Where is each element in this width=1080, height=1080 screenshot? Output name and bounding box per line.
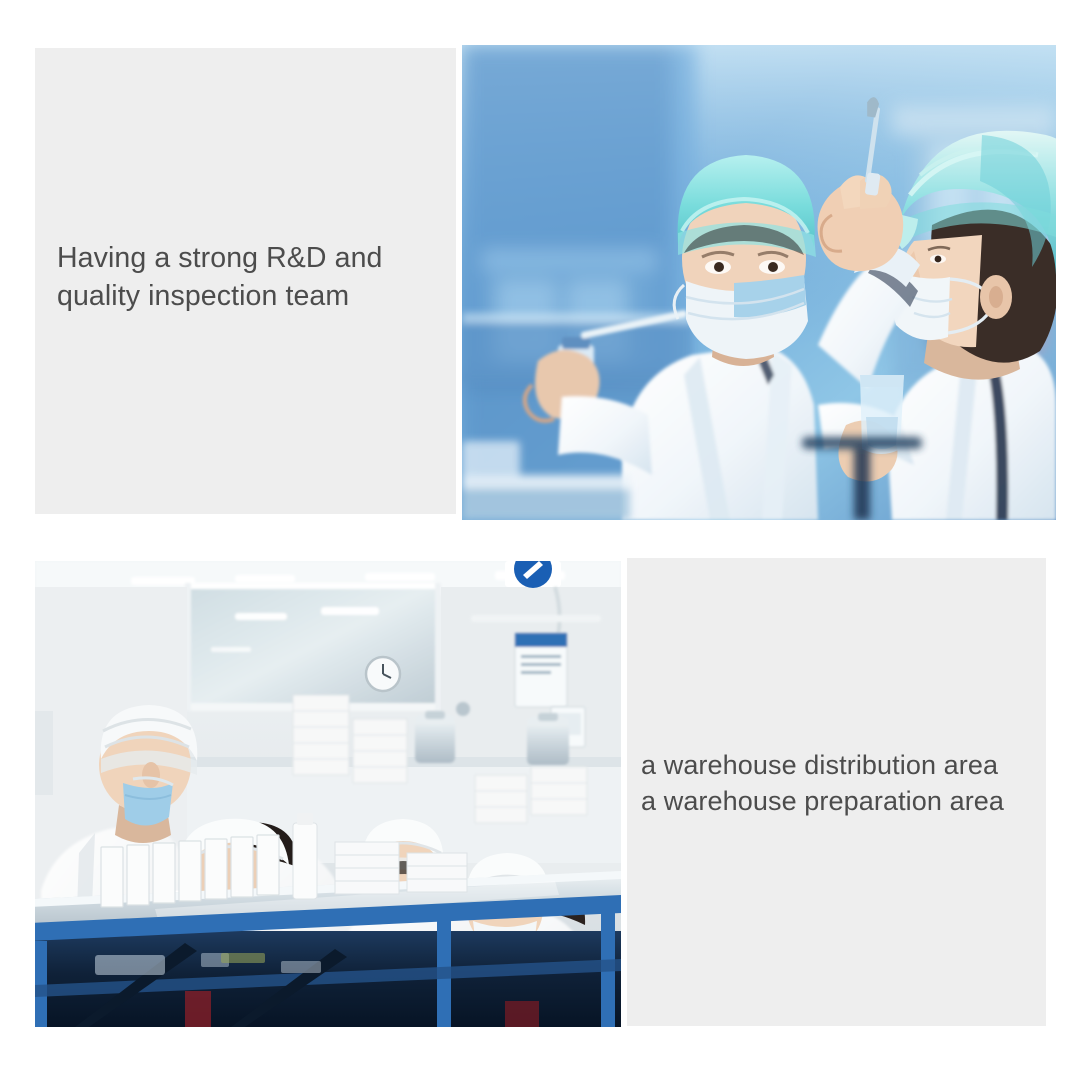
product-description-page: Having a strong R&D and quality inspecti…	[0, 0, 1080, 1080]
caption-panel-top: Having a strong R&D and quality inspecti…	[35, 48, 456, 514]
caption-rd-quality-inspection: Having a strong R&D and quality inspecti…	[57, 240, 447, 315]
warehouse-packing-illustration	[35, 561, 621, 1027]
section-rd-quality-inspection: Having a strong R&D and quality inspecti…	[0, 0, 1080, 525]
lab-technicians-photo	[462, 45, 1056, 520]
caption-warehouse-areas: a warehouse distribution area a warehous…	[641, 748, 1046, 820]
lab-technicians-illustration	[462, 45, 1056, 520]
warehouse-packing-photo	[35, 561, 621, 1027]
caption-panel-bottom: a warehouse distribution area a warehous…	[627, 558, 1046, 1026]
wall-sign	[505, 561, 561, 588]
notice-board	[515, 633, 567, 707]
wall-clock	[366, 657, 400, 691]
section-warehouse-areas: a warehouse distribution area a warehous…	[0, 556, 1080, 1036]
